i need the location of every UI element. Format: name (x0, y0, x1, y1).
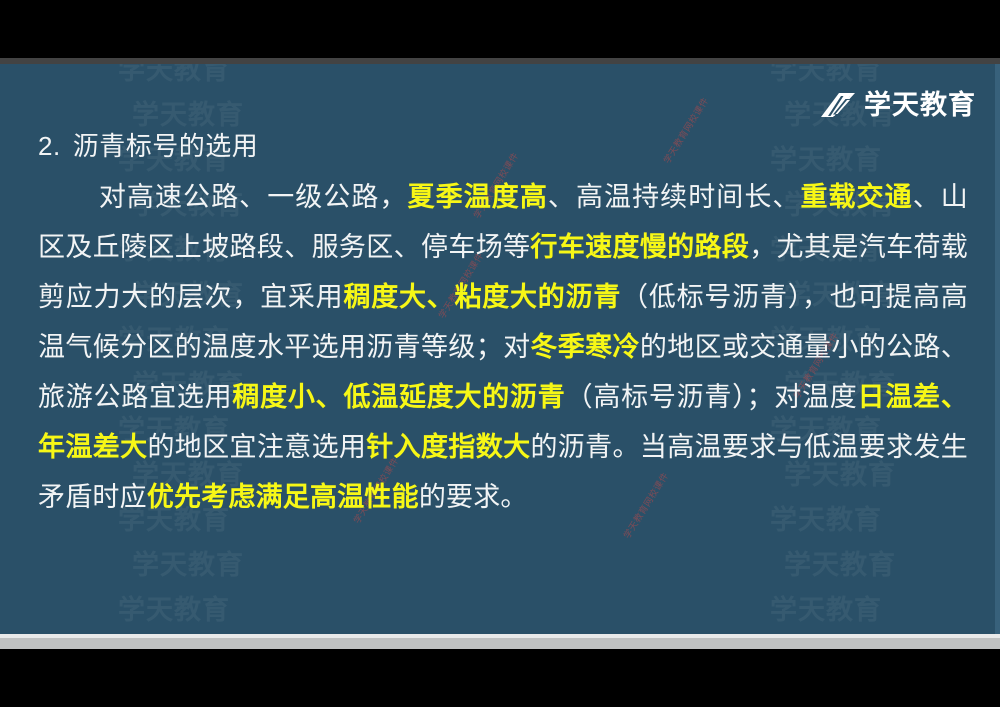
paragraph-segments: 对高速公路、一级公路，夏季温度高、高温持续时间长、重载交通、山区及丘陵区上坡路段… (38, 182, 968, 512)
highlighted-term: 冬季寒冷 (530, 332, 639, 362)
highlighted-term: 夏季温度高 (408, 182, 548, 212)
body-paragraph: 对高速公路、一级公路，夏季温度高、高温持续时间长、重载交通、山区及丘陵区上坡路段… (38, 172, 968, 522)
letterbox-bottom (0, 649, 1000, 707)
brand-logo-text: 学天教育 (864, 92, 976, 119)
slide-content: 2.沥青标号的选用 对高速公路、一级公路，夏季温度高、高温持续时间长、重载交通、… (0, 64, 1000, 634)
paragraph-text: （高标号沥青）；对温度 (566, 382, 858, 412)
highlighted-term: 针入度指数大 (366, 432, 530, 462)
road-swoosh-icon (819, 92, 857, 119)
paragraph-text: 的要求。 (419, 482, 528, 512)
highlighted-term: 行车速度慢的路段 (530, 232, 749, 262)
letterbox-top (0, 0, 1000, 58)
bottom-progress-bar[interactable] (0, 638, 1000, 649)
brand-logo: 学天教育 (819, 92, 976, 119)
video-player: 学天教育学天教育学天教育学天教育学天教育学天教育学天教育学天教育学天教育学天教育… (0, 0, 1000, 707)
paragraph-text: 对高速公路、一级公路， (98, 182, 408, 212)
page-title: 2.沥青标号的选用 (38, 126, 258, 163)
presentation-slide: 学天教育学天教育学天教育学天教育学天教育学天教育学天教育学天教育学天教育学天教育… (0, 64, 1000, 634)
highlighted-term: 重载交通 (800, 182, 912, 212)
heading-number: 2. (38, 131, 61, 161)
heading-title: 沥青标号的选用 (73, 131, 259, 161)
paragraph-text: 、高温持续时间长、 (548, 182, 801, 212)
highlighted-term: 稠度小、低温延度大的沥青 (232, 382, 565, 412)
highlighted-term: 稠度大、粘度大的沥青 (343, 282, 621, 312)
highlighted-term: 优先考虑满足高温性能 (147, 482, 419, 512)
paragraph-text: 的地区宜注意选用 (147, 432, 366, 462)
